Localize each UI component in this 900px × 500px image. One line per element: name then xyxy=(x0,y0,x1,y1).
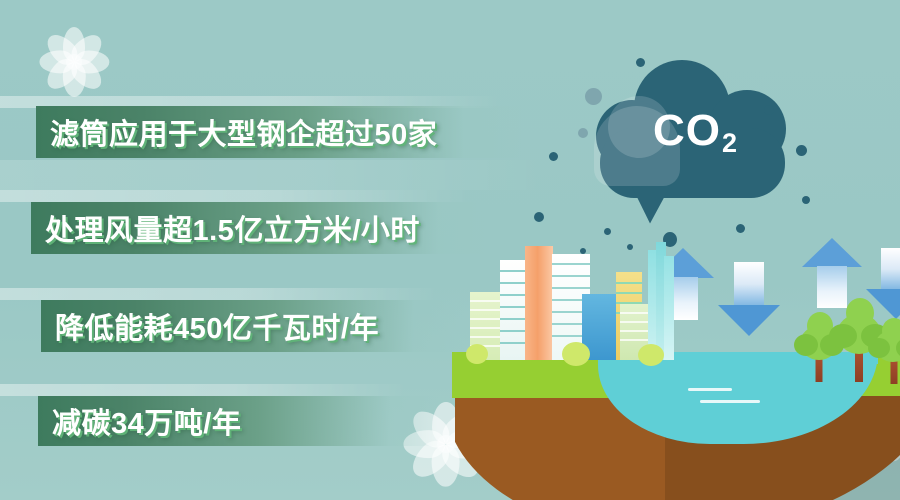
daisy-center xyxy=(66,54,81,69)
tree-3 xyxy=(868,318,900,384)
tree-trunk xyxy=(891,360,898,384)
building-windows xyxy=(552,275,590,277)
speck-dot-7 xyxy=(534,212,544,222)
statement-text-4: 减碳34万吨/年 xyxy=(52,400,241,442)
speck-dot-1 xyxy=(636,58,645,67)
building-windows xyxy=(620,321,648,323)
building-windows xyxy=(616,282,642,284)
arrow-shaft xyxy=(881,248,900,290)
water-ripple-2 xyxy=(700,400,760,403)
building-windows xyxy=(470,318,500,320)
statement-text-3: 降低能耗450亿千瓦时/年 xyxy=(55,305,379,347)
co2-label-main: CO xyxy=(653,106,721,155)
statement-bar-2[interactable]: 处理风量超1.5亿立方米/小时 xyxy=(31,202,493,254)
building-windows xyxy=(552,287,590,289)
tree-canopy xyxy=(829,324,857,348)
speck-dot-11 xyxy=(736,224,745,233)
statement-text-1: 滤筒应用于大型钢企超过50家 xyxy=(50,111,437,153)
haze-band-4 xyxy=(0,384,520,396)
building-windows xyxy=(552,263,590,265)
arrow-head xyxy=(802,238,862,267)
bush-2 xyxy=(562,342,590,366)
building-windows xyxy=(470,336,500,338)
speck-dot-3 xyxy=(578,128,588,138)
water-ripple-1 xyxy=(688,388,732,391)
tree-canopy xyxy=(794,334,818,356)
co2-cloud: CO2 xyxy=(590,60,800,210)
speck-dot-6 xyxy=(549,152,558,161)
haze-band-2 xyxy=(0,190,600,202)
absorption-down-arrow-left xyxy=(718,262,780,336)
statement-bar-1[interactable]: 滤筒应用于大型钢企超过50家 xyxy=(36,106,522,158)
arrow-head xyxy=(718,305,780,336)
statement-bar-4[interactable]: 减碳34万吨/年 xyxy=(38,396,438,446)
building-windows xyxy=(620,339,648,341)
statement-text-2: 处理风量超1.5亿立方米/小时 xyxy=(45,207,420,249)
co2-label: CO2 xyxy=(590,106,800,156)
cloud-speech-tail xyxy=(632,183,676,225)
speck-dot-8 xyxy=(604,228,611,235)
building-windows xyxy=(470,309,500,311)
city-skyline xyxy=(470,240,670,360)
building-windows xyxy=(620,312,648,314)
building-windows xyxy=(620,330,648,332)
infographic-canvas: CO2 xyxy=(0,0,900,500)
daisy-flower-top-left xyxy=(36,24,112,100)
speck-dot-12 xyxy=(802,196,810,204)
building-tower-teal-tall-c xyxy=(664,256,674,360)
building-tower-orange xyxy=(525,246,553,360)
statement-bar-3[interactable]: 降低能耗450亿千瓦时/年 xyxy=(41,300,465,352)
bush-3 xyxy=(638,344,664,366)
building-windows xyxy=(616,292,642,294)
speck-dot-2 xyxy=(585,88,602,105)
co2-label-subscript: 2 xyxy=(722,128,738,158)
tree-trunk xyxy=(855,352,863,382)
bush-1 xyxy=(466,344,488,364)
building-windows xyxy=(470,300,500,302)
arrow-shaft xyxy=(734,262,764,306)
building-windows xyxy=(470,327,500,329)
tree-canopy xyxy=(868,338,890,358)
